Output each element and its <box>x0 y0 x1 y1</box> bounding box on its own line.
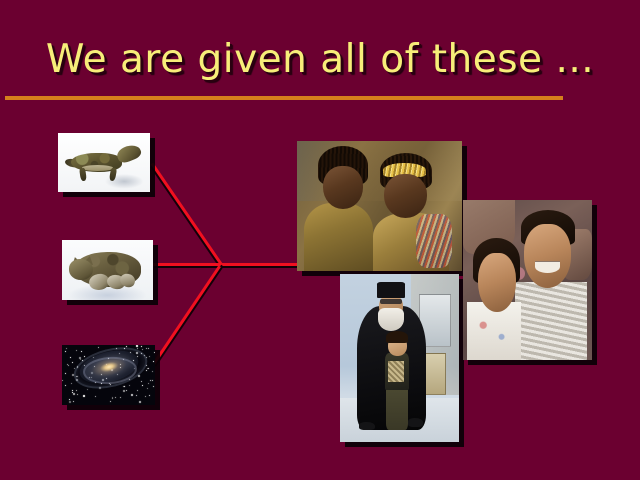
photo-african-girls <box>297 141 462 271</box>
cat-head <box>69 259 93 279</box>
star <box>81 351 82 352</box>
connector-shadow <box>154 265 224 367</box>
star <box>154 352 155 353</box>
star <box>110 401 111 402</box>
photo-lizard-image <box>58 133 150 192</box>
child-bib <box>388 361 405 381</box>
star <box>129 385 130 386</box>
star <box>87 389 88 390</box>
photo-priest-and-child-image <box>340 274 459 442</box>
star <box>62 380 63 381</box>
photo-galaxy <box>62 345 155 405</box>
star <box>137 390 138 391</box>
boy-face <box>524 224 572 288</box>
boy-shirt <box>515 282 587 360</box>
star <box>98 347 99 348</box>
star <box>72 390 73 391</box>
star <box>142 349 143 350</box>
star <box>139 401 141 403</box>
connector-stroke <box>151 265 221 367</box>
star <box>136 395 137 396</box>
child-legs <box>386 385 407 430</box>
star <box>153 361 154 362</box>
star <box>131 394 133 396</box>
star <box>73 393 75 395</box>
priest-glasses <box>380 299 401 304</box>
star <box>83 395 85 397</box>
star <box>148 348 149 349</box>
priest-shoe <box>359 422 374 430</box>
star <box>68 365 69 366</box>
star <box>150 380 151 381</box>
connector-line-to-galaxy <box>151 265 221 367</box>
star <box>84 356 85 357</box>
girl-left-garment <box>304 203 373 271</box>
star <box>152 380 153 381</box>
star <box>77 394 78 395</box>
star <box>76 390 77 391</box>
photo-cat-image <box>62 240 153 300</box>
title-divider-rule <box>5 96 563 100</box>
star <box>115 397 116 398</box>
star <box>153 386 154 387</box>
star <box>69 401 71 403</box>
star <box>65 351 66 352</box>
star <box>147 388 148 389</box>
star <box>71 383 72 384</box>
star <box>152 371 153 372</box>
girl-face <box>478 253 515 312</box>
star <box>145 396 146 397</box>
photo-african-girls-image <box>297 141 462 271</box>
star <box>76 350 77 351</box>
star <box>149 395 150 396</box>
star <box>95 396 96 397</box>
child-hair <box>386 331 407 343</box>
star <box>149 356 150 357</box>
photo-galaxy-image <box>62 345 155 405</box>
connector-stroke <box>152 263 298 266</box>
star <box>70 357 71 358</box>
star <box>124 386 125 387</box>
star <box>66 348 67 349</box>
lizard-belly <box>82 165 113 171</box>
connector-stroke <box>151 163 224 267</box>
boy-smile <box>535 261 560 273</box>
slide-canvas: We are given all of these ... <box>0 0 640 480</box>
star <box>72 362 73 363</box>
photo-lizard <box>58 133 150 192</box>
photo-cat <box>62 240 153 300</box>
photo-priest-and-child <box>340 274 459 442</box>
star <box>146 370 147 371</box>
page-title: We are given all of these ... <box>0 36 640 84</box>
beaded-necklace <box>416 214 452 269</box>
star <box>148 383 149 384</box>
star <box>146 348 147 349</box>
star <box>141 346 142 347</box>
priest-hat <box>377 282 406 297</box>
priest-shoe <box>408 418 423 426</box>
star <box>65 385 66 386</box>
star <box>141 381 142 382</box>
star <box>65 373 66 374</box>
girl-right-face <box>384 174 427 218</box>
photo-asian-children-image <box>463 200 592 360</box>
star <box>142 385 143 386</box>
star <box>123 386 124 387</box>
lizard-hindleg <box>108 168 117 182</box>
star <box>126 390 127 391</box>
star <box>73 401 74 402</box>
photo-asian-children <box>463 200 592 360</box>
girl-left-face <box>323 166 363 209</box>
connector-line-to-cat <box>152 263 298 266</box>
connector-line-to-lizard <box>151 163 224 267</box>
star <box>112 398 113 399</box>
star <box>120 397 121 398</box>
